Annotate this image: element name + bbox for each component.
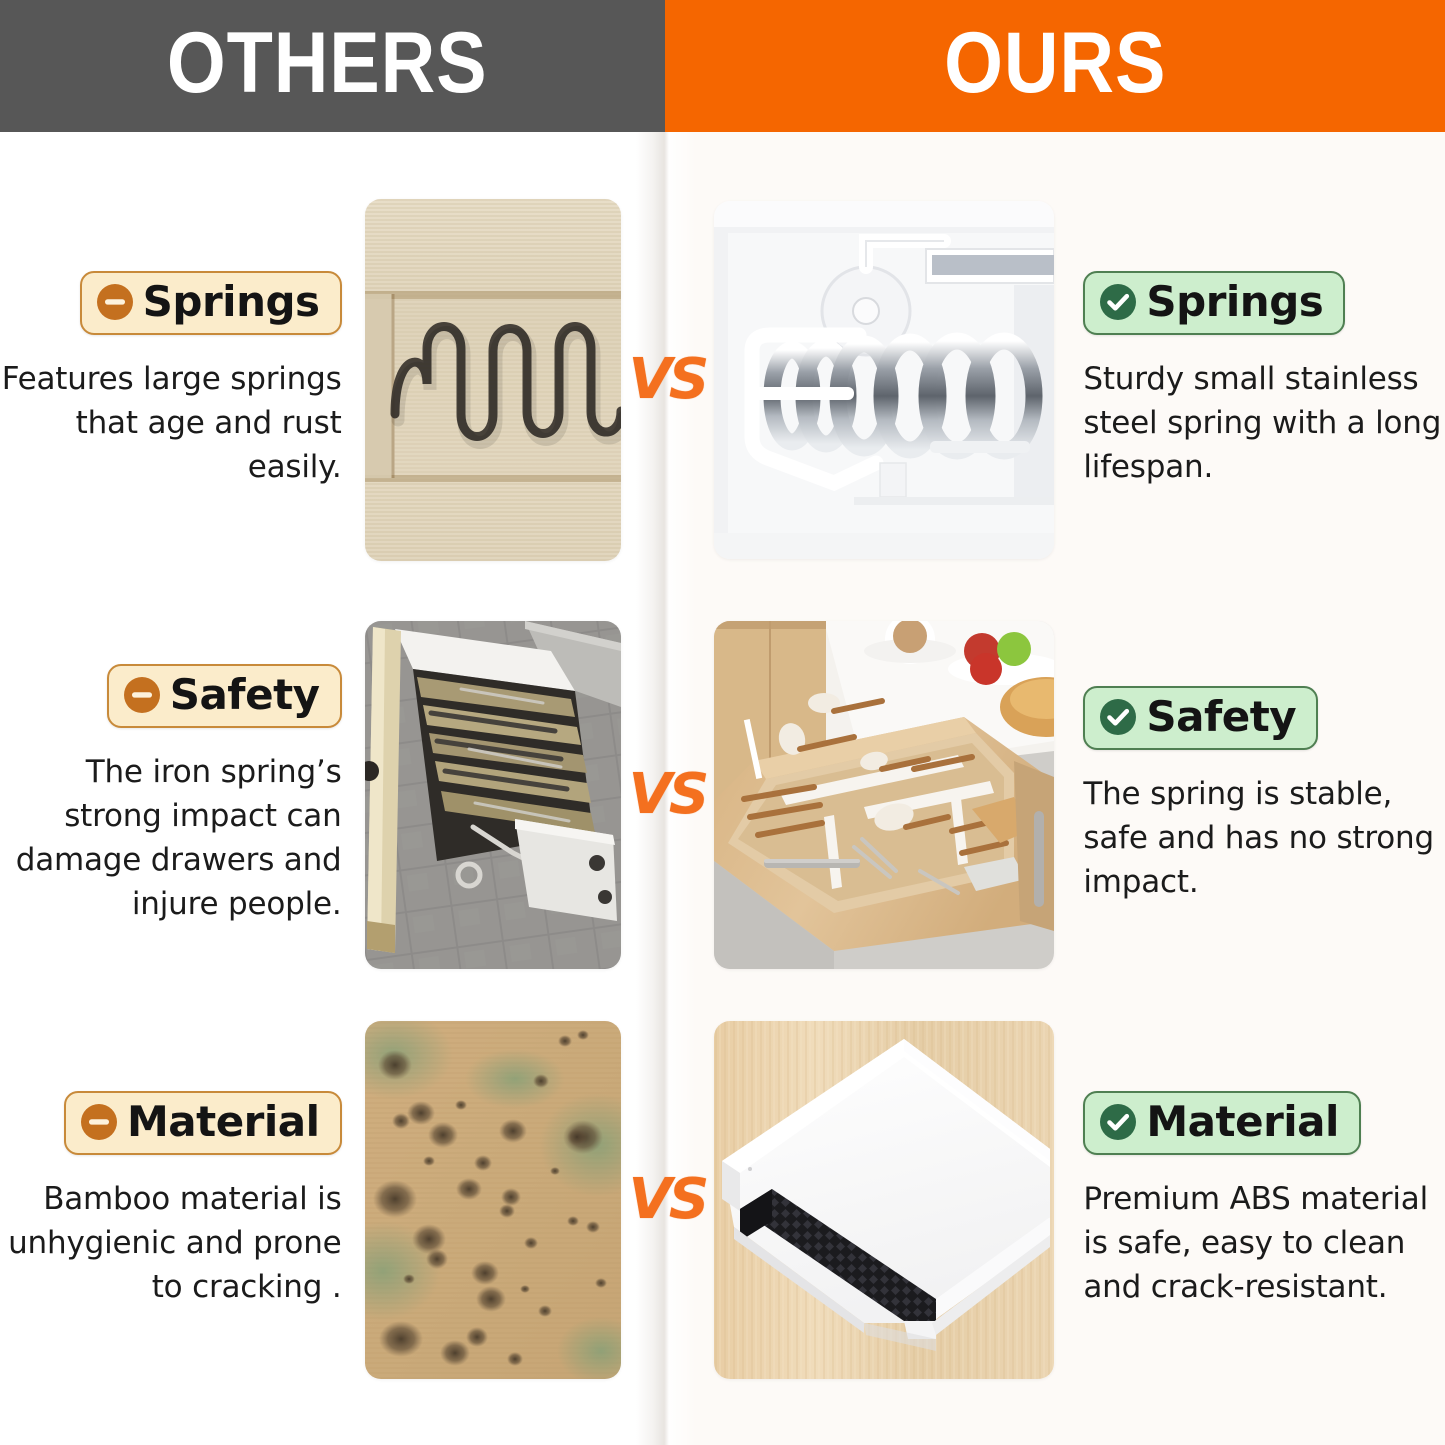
others-description: The iron spring’s strong impact can dama…: [0, 750, 342, 926]
others-photo-slot: [360, 1021, 628, 1379]
ours-badge-label: Safety: [1146, 695, 1296, 739]
others-photo-slot: [360, 199, 628, 561]
ours-text-springs: Springs Sturdy small stainless steel spr…: [1061, 271, 1445, 489]
ours-badge-label: Springs: [1146, 280, 1323, 324]
others-text-springs: Springs Features large springs that age …: [0, 271, 360, 489]
ours-description: The spring is stable, safe and has no st…: [1083, 772, 1445, 904]
others-text-safety: Safety The iron spring’s strong impact c…: [0, 664, 360, 926]
others-badge-safety: Safety: [107, 664, 342, 728]
comparison-header: OTHERS OURS: [0, 0, 1445, 132]
organized-kitchen-drawer-photo: [714, 621, 1054, 969]
minus-circle-icon: [123, 676, 161, 714]
others-badge-springs: Springs: [80, 271, 342, 335]
others-description: Bamboo material is unhygienic and prone …: [0, 1177, 342, 1309]
header-others-title: OTHERS: [167, 20, 488, 112]
others-text-material: Material Bamboo material is unhygienic a…: [0, 1091, 360, 1309]
vs-marker: VS: [627, 1172, 707, 1228]
ours-text-safety: Safety The spring is stable, safe and ha…: [1061, 686, 1445, 904]
check-circle-icon: [1099, 283, 1137, 321]
ours-photo-slot: [707, 621, 1061, 969]
ours-photo-slot: [707, 1021, 1061, 1379]
others-badge-label: Material: [127, 1100, 320, 1144]
header-ours-title: OURS: [944, 20, 1166, 112]
header-others-section: OTHERS: [0, 0, 665, 132]
white-abs-coil-spring-mechanism-photo: [714, 201, 1054, 559]
ours-photo-slot: [707, 201, 1061, 559]
ours-text-material: Material Premium ABS material is safe, e…: [1061, 1091, 1445, 1309]
comparison-row-springs: Springs Features large springs that age …: [0, 180, 1445, 580]
others-badge-material: Material: [64, 1091, 342, 1155]
moldy-bamboo-board-photo: [365, 1021, 621, 1379]
minus-circle-icon: [80, 1103, 118, 1141]
ours-badge-material: Material: [1083, 1091, 1361, 1155]
minus-circle-icon: [96, 283, 134, 321]
comparison-row-material: Material Bamboo material is unhygienic a…: [0, 1000, 1445, 1400]
others-badge-label: Safety: [170, 673, 320, 717]
ours-badge-safety: Safety: [1083, 686, 1318, 750]
comparison-row-safety: Safety The iron spring’s strong impact c…: [0, 600, 1445, 990]
ours-description: Premium ABS material is safe, easy to cl…: [1083, 1177, 1445, 1309]
others-badge-label: Springs: [143, 280, 320, 324]
bamboo-drawer-zigzag-spring-photo: [365, 199, 621, 561]
ours-badge-label: Material: [1146, 1100, 1339, 1144]
vs-marker: VS: [627, 767, 707, 823]
others-description: Features large springs that age and rust…: [0, 357, 342, 489]
others-photo-slot: [360, 621, 628, 969]
comparison-infographic: OTHERS OURS Springs Features large sprin…: [0, 0, 1445, 1445]
check-circle-icon: [1099, 698, 1137, 736]
check-circle-icon: [1099, 1103, 1137, 1141]
white-abs-drawer-organizer-photo: [714, 1021, 1054, 1379]
ours-badge-springs: Springs: [1083, 271, 1345, 335]
header-ours-section: OURS: [665, 0, 1445, 132]
messy-drawer-on-floor-photo: [365, 621, 621, 969]
ours-description: Sturdy small stainless steel spring with…: [1083, 357, 1445, 489]
vs-marker: VS: [627, 352, 707, 408]
